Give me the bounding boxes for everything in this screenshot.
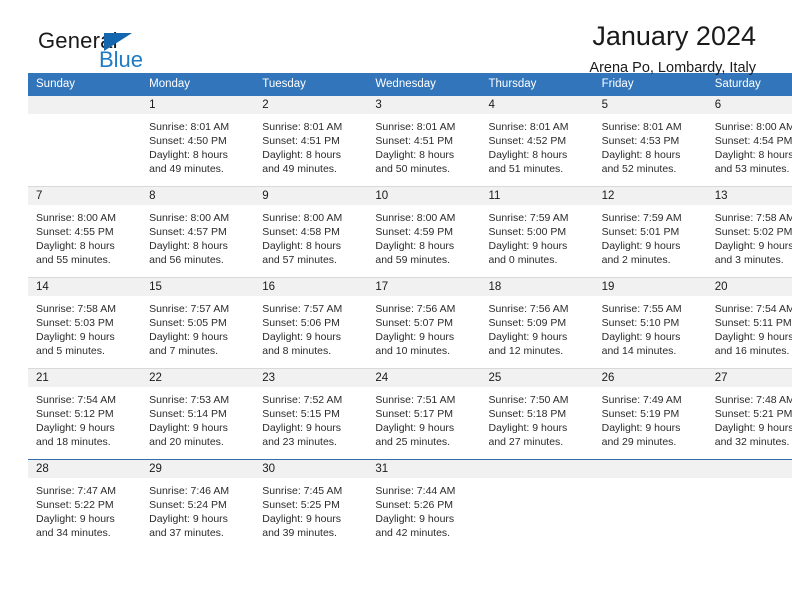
day-details: Sunrise: 7:58 AMSunset: 5:03 PMDaylight:… bbox=[28, 296, 141, 358]
day-details: Sunrise: 8:01 AMSunset: 4:51 PMDaylight:… bbox=[367, 114, 480, 176]
sunrise-text: Sunrise: 7:58 AM bbox=[715, 211, 792, 225]
daylight-text-line2: and 59 minutes. bbox=[375, 253, 474, 267]
daylight-text-line2: and 49 minutes. bbox=[262, 162, 361, 176]
sunrise-text: Sunrise: 7:51 AM bbox=[375, 393, 474, 407]
sunset-text: Sunset: 5:00 PM bbox=[489, 225, 588, 239]
sunset-text: Sunset: 4:57 PM bbox=[149, 225, 248, 239]
daylight-text-line1: Daylight: 9 hours bbox=[262, 512, 361, 526]
sunset-text: Sunset: 5:06 PM bbox=[262, 316, 361, 330]
sunset-text: Sunset: 5:03 PM bbox=[36, 316, 135, 330]
sunset-text: Sunset: 4:51 PM bbox=[262, 134, 361, 148]
daylight-text-line1: Daylight: 8 hours bbox=[36, 239, 135, 253]
calendar-day-cell[interactable]: 14Sunrise: 7:58 AMSunset: 5:03 PMDayligh… bbox=[28, 278, 141, 369]
sunrise-text: Sunrise: 7:50 AM bbox=[489, 393, 588, 407]
daylight-text-line1: Daylight: 9 hours bbox=[36, 330, 135, 344]
daylight-text-line1: Daylight: 9 hours bbox=[149, 330, 248, 344]
daylight-text-line1: Daylight: 9 hours bbox=[149, 421, 248, 435]
sunrise-text: Sunrise: 8:00 AM bbox=[36, 211, 135, 225]
day-details: Sunrise: 8:00 AMSunset: 4:55 PMDaylight:… bbox=[28, 205, 141, 267]
daylight-text-line1: Daylight: 9 hours bbox=[36, 512, 135, 526]
calendar-day-cell[interactable]: 18Sunrise: 7:56 AMSunset: 5:09 PMDayligh… bbox=[481, 278, 594, 369]
daylight-text-line2: and 3 minutes. bbox=[715, 253, 792, 267]
calendar-day-cell[interactable]: 11Sunrise: 7:59 AMSunset: 5:00 PMDayligh… bbox=[481, 187, 594, 278]
calendar-day-cell[interactable]: 12Sunrise: 7:59 AMSunset: 5:01 PMDayligh… bbox=[594, 187, 707, 278]
day-details: Sunrise: 7:50 AMSunset: 5:18 PMDaylight:… bbox=[481, 387, 594, 449]
calendar-day-cell[interactable]: 28Sunrise: 7:47 AMSunset: 5:22 PMDayligh… bbox=[28, 460, 141, 551]
day-details: Sunrise: 7:57 AMSunset: 5:05 PMDaylight:… bbox=[141, 296, 254, 358]
sunset-text: Sunset: 5:14 PM bbox=[149, 407, 248, 421]
day-number: 14 bbox=[28, 278, 141, 296]
sunrise-text: Sunrise: 8:01 AM bbox=[375, 120, 474, 134]
day-details: Sunrise: 8:00 AMSunset: 4:57 PMDaylight:… bbox=[141, 205, 254, 267]
sunrise-text: Sunrise: 7:52 AM bbox=[262, 393, 361, 407]
day-details: Sunrise: 7:58 AMSunset: 5:02 PMDaylight:… bbox=[707, 205, 792, 267]
page-title: January 2024 bbox=[589, 22, 756, 52]
sunset-text: Sunset: 5:21 PM bbox=[715, 407, 792, 421]
sunset-text: Sunset: 5:25 PM bbox=[262, 498, 361, 512]
sunrise-sunset-calendar: Sunday Monday Tuesday Wednesday Thursday… bbox=[28, 73, 792, 550]
weekday-header-wednesday: Wednesday bbox=[367, 73, 480, 96]
sunrise-text: Sunrise: 8:01 AM bbox=[149, 120, 248, 134]
daylight-text-line1: Daylight: 9 hours bbox=[149, 512, 248, 526]
sunrise-text: Sunrise: 7:47 AM bbox=[36, 484, 135, 498]
daylight-text-line2: and 20 minutes. bbox=[149, 435, 248, 449]
day-number: 26 bbox=[594, 369, 707, 387]
daylight-text-line1: Daylight: 8 hours bbox=[262, 148, 361, 162]
sunset-text: Sunset: 5:11 PM bbox=[715, 316, 792, 330]
daylight-text-line2: and 18 minutes. bbox=[36, 435, 135, 449]
weekday-header-thursday: Thursday bbox=[481, 73, 594, 96]
day-number: 11 bbox=[481, 187, 594, 205]
daylight-text-line2: and 32 minutes. bbox=[715, 435, 792, 449]
daylight-text-line1: Daylight: 8 hours bbox=[375, 148, 474, 162]
daylight-text-line2: and 52 minutes. bbox=[602, 162, 701, 176]
daylight-text-line1: Daylight: 9 hours bbox=[262, 330, 361, 344]
sunset-text: Sunset: 4:52 PM bbox=[489, 134, 588, 148]
day-details: Sunrise: 8:01 AMSunset: 4:53 PMDaylight:… bbox=[594, 114, 707, 176]
weekday-header-friday: Friday bbox=[594, 73, 707, 96]
calendar-day-cell[interactable]: 21Sunrise: 7:54 AMSunset: 5:12 PMDayligh… bbox=[28, 369, 141, 460]
calendar-week-row: 14Sunrise: 7:58 AMSunset: 5:03 PMDayligh… bbox=[28, 278, 792, 369]
calendar-day-cell[interactable]: 26Sunrise: 7:49 AMSunset: 5:19 PMDayligh… bbox=[594, 369, 707, 460]
sunset-text: Sunset: 5:22 PM bbox=[36, 498, 135, 512]
daylight-text-line1: Daylight: 9 hours bbox=[489, 421, 588, 435]
sunrise-text: Sunrise: 8:00 AM bbox=[715, 120, 792, 134]
sunrise-text: Sunrise: 7:45 AM bbox=[262, 484, 361, 498]
day-number: 28 bbox=[28, 460, 141, 478]
day-details: Sunrise: 8:01 AMSunset: 4:52 PMDaylight:… bbox=[481, 114, 594, 176]
sunrise-text: Sunrise: 7:49 AM bbox=[602, 393, 701, 407]
day-number: 27 bbox=[707, 369, 792, 387]
calendar-day-cell[interactable]: 30Sunrise: 7:45 AMSunset: 5:25 PMDayligh… bbox=[254, 460, 367, 551]
sunrise-text: Sunrise: 8:00 AM bbox=[149, 211, 248, 225]
daylight-text-line1: Daylight: 8 hours bbox=[489, 148, 588, 162]
day-number: 8 bbox=[141, 187, 254, 205]
daylight-text-line2: and 37 minutes. bbox=[149, 526, 248, 540]
daylight-text-line2: and 10 minutes. bbox=[375, 344, 474, 358]
sunset-text: Sunset: 5:02 PM bbox=[715, 225, 792, 239]
sunset-text: Sunset: 5:24 PM bbox=[149, 498, 248, 512]
sunset-text: Sunset: 4:55 PM bbox=[36, 225, 135, 239]
sunrise-text: Sunrise: 7:55 AM bbox=[602, 302, 701, 316]
day-number: 18 bbox=[481, 278, 594, 296]
calendar-day-cell[interactable]: 24Sunrise: 7:51 AMSunset: 5:17 PMDayligh… bbox=[367, 369, 480, 460]
daylight-text-line1: Daylight: 9 hours bbox=[715, 239, 792, 253]
day-details: Sunrise: 8:00 AMSunset: 4:58 PMDaylight:… bbox=[254, 205, 367, 267]
daylight-text-line2: and 8 minutes. bbox=[262, 344, 361, 358]
daylight-text-line2: and 27 minutes. bbox=[489, 435, 588, 449]
sunset-text: Sunset: 5:07 PM bbox=[375, 316, 474, 330]
day-number: 12 bbox=[594, 187, 707, 205]
calendar-body: 1Sunrise: 8:01 AMSunset: 4:50 PMDaylight… bbox=[28, 96, 792, 550]
sunset-text: Sunset: 5:10 PM bbox=[602, 316, 701, 330]
calendar-day-cell[interactable]: 20Sunrise: 7:54 AMSunset: 5:11 PMDayligh… bbox=[707, 278, 792, 369]
daylight-text-line2: and 39 minutes. bbox=[262, 526, 361, 540]
daylight-text-line2: and 5 minutes. bbox=[36, 344, 135, 358]
day-number: 20 bbox=[707, 278, 792, 296]
calendar-day-cell[interactable]: 19Sunrise: 7:55 AMSunset: 5:10 PMDayligh… bbox=[594, 278, 707, 369]
day-details: Sunrise: 7:51 AMSunset: 5:17 PMDaylight:… bbox=[367, 387, 480, 449]
day-number: 3 bbox=[367, 96, 480, 114]
sunrise-text: Sunrise: 7:57 AM bbox=[262, 302, 361, 316]
day-details: Sunrise: 7:47 AMSunset: 5:22 PMDaylight:… bbox=[28, 478, 141, 540]
sunset-text: Sunset: 5:26 PM bbox=[375, 498, 474, 512]
daylight-text-line2: and 55 minutes. bbox=[36, 253, 135, 267]
daylight-text-line1: Daylight: 9 hours bbox=[602, 239, 701, 253]
day-details: Sunrise: 7:57 AMSunset: 5:06 PMDaylight:… bbox=[254, 296, 367, 358]
calendar-day-cell[interactable]: 22Sunrise: 7:53 AMSunset: 5:14 PMDayligh… bbox=[141, 369, 254, 460]
sunset-text: Sunset: 5:18 PM bbox=[489, 407, 588, 421]
day-number: 24 bbox=[367, 369, 480, 387]
sunset-text: Sunset: 4:58 PM bbox=[262, 225, 361, 239]
day-details: Sunrise: 7:55 AMSunset: 5:10 PMDaylight:… bbox=[594, 296, 707, 358]
sunset-text: Sunset: 4:50 PM bbox=[149, 134, 248, 148]
calendar-day-cell[interactable]: 13Sunrise: 7:58 AMSunset: 5:02 PMDayligh… bbox=[707, 187, 792, 278]
calendar-day-cell[interactable]: 10Sunrise: 8:00 AMSunset: 4:59 PMDayligh… bbox=[367, 187, 480, 278]
brand-name-blue: Blue bbox=[99, 47, 143, 73]
calendar-day-cell[interactable]: 7Sunrise: 8:00 AMSunset: 4:55 PMDaylight… bbox=[28, 187, 141, 278]
sunrise-text: Sunrise: 7:57 AM bbox=[149, 302, 248, 316]
sunrise-text: Sunrise: 8:01 AM bbox=[489, 120, 588, 134]
daylight-text-line1: Daylight: 9 hours bbox=[262, 421, 361, 435]
day-number: 23 bbox=[254, 369, 367, 387]
daylight-text-line2: and 16 minutes. bbox=[715, 344, 792, 358]
daylight-text-line1: Daylight: 8 hours bbox=[375, 239, 474, 253]
day-details: Sunrise: 7:46 AMSunset: 5:24 PMDaylight:… bbox=[141, 478, 254, 540]
sunset-text: Sunset: 5:12 PM bbox=[36, 407, 135, 421]
weekday-header-saturday: Saturday bbox=[707, 73, 792, 96]
sunrise-text: Sunrise: 7:58 AM bbox=[36, 302, 135, 316]
day-number: 25 bbox=[481, 369, 594, 387]
page-header: General Blue January 2024 Arena Po, Lomb… bbox=[28, 0, 764, 73]
sunset-text: Sunset: 5:15 PM bbox=[262, 407, 361, 421]
daylight-text-line1: Daylight: 8 hours bbox=[149, 148, 248, 162]
sunset-text: Sunset: 4:54 PM bbox=[715, 134, 792, 148]
calendar-day-cell[interactable]: 27Sunrise: 7:48 AMSunset: 5:21 PMDayligh… bbox=[707, 369, 792, 460]
title-block: January 2024 Arena Po, Lombardy, Italy bbox=[589, 22, 756, 76]
daylight-text-line1: Daylight: 9 hours bbox=[489, 239, 588, 253]
day-number: 21 bbox=[28, 369, 141, 387]
daylight-text-line2: and 2 minutes. bbox=[602, 253, 701, 267]
sunset-text: Sunset: 5:17 PM bbox=[375, 407, 474, 421]
sunset-text: Sunset: 5:19 PM bbox=[602, 407, 701, 421]
sunset-text: Sunset: 5:05 PM bbox=[149, 316, 248, 330]
day-number: 10 bbox=[367, 187, 480, 205]
day-number: 15 bbox=[141, 278, 254, 296]
daylight-text-line2: and 7 minutes. bbox=[149, 344, 248, 358]
day-number: 2 bbox=[254, 96, 367, 114]
day-number: 30 bbox=[254, 460, 367, 478]
daylight-text-line2: and 23 minutes. bbox=[262, 435, 361, 449]
sunrise-text: Sunrise: 7:54 AM bbox=[715, 302, 792, 316]
daylight-text-line2: and 42 minutes. bbox=[375, 526, 474, 540]
page-subtitle: Arena Po, Lombardy, Italy bbox=[589, 60, 756, 76]
day-details: Sunrise: 7:49 AMSunset: 5:19 PMDaylight:… bbox=[594, 387, 707, 449]
daylight-text-line1: Daylight: 8 hours bbox=[149, 239, 248, 253]
daylight-text-line1: Daylight: 9 hours bbox=[36, 421, 135, 435]
calendar-day-cell[interactable]: 9Sunrise: 8:00 AMSunset: 4:58 PMDaylight… bbox=[254, 187, 367, 278]
sunrise-text: Sunrise: 8:01 AM bbox=[602, 120, 701, 134]
day-number bbox=[707, 460, 792, 478]
day-details bbox=[594, 478, 707, 484]
calendar-day-cell[interactable] bbox=[28, 96, 141, 187]
daylight-text-line1: Daylight: 9 hours bbox=[715, 330, 792, 344]
daylight-text-line1: Daylight: 9 hours bbox=[715, 421, 792, 435]
calendar-day-cell[interactable]: 16Sunrise: 7:57 AMSunset: 5:06 PMDayligh… bbox=[254, 278, 367, 369]
sunrise-text: Sunrise: 7:53 AM bbox=[149, 393, 248, 407]
calendar-day-cell[interactable] bbox=[707, 460, 792, 551]
daylight-text-line2: and 12 minutes. bbox=[489, 344, 588, 358]
sunrise-text: Sunrise: 7:54 AM bbox=[36, 393, 135, 407]
day-number: 22 bbox=[141, 369, 254, 387]
day-details: Sunrise: 7:53 AMSunset: 5:14 PMDaylight:… bbox=[141, 387, 254, 449]
day-number: 13 bbox=[707, 187, 792, 205]
calendar-week-row: 7Sunrise: 8:00 AMSunset: 4:55 PMDaylight… bbox=[28, 187, 792, 278]
day-details: Sunrise: 7:52 AMSunset: 5:15 PMDaylight:… bbox=[254, 387, 367, 449]
calendar-day-cell[interactable]: 25Sunrise: 7:50 AMSunset: 5:18 PMDayligh… bbox=[481, 369, 594, 460]
day-number: 29 bbox=[141, 460, 254, 478]
daylight-text-line2: and 0 minutes. bbox=[489, 253, 588, 267]
calendar-day-cell[interactable] bbox=[594, 460, 707, 551]
sunset-text: Sunset: 4:51 PM bbox=[375, 134, 474, 148]
daylight-text-line1: Daylight: 9 hours bbox=[602, 421, 701, 435]
day-details: Sunrise: 7:48 AMSunset: 5:21 PMDaylight:… bbox=[707, 387, 792, 449]
day-number: 5 bbox=[594, 96, 707, 114]
day-number: 9 bbox=[254, 187, 367, 205]
day-number: 31 bbox=[367, 460, 480, 478]
daylight-text-line1: Daylight: 9 hours bbox=[375, 512, 474, 526]
sunset-text: Sunset: 5:01 PM bbox=[602, 225, 701, 239]
day-number bbox=[28, 96, 141, 114]
sunrise-text: Sunrise: 7:59 AM bbox=[489, 211, 588, 225]
day-details: Sunrise: 7:45 AMSunset: 5:25 PMDaylight:… bbox=[254, 478, 367, 540]
daylight-text-line2: and 49 minutes. bbox=[149, 162, 248, 176]
sunset-text: Sunset: 4:53 PM bbox=[602, 134, 701, 148]
daylight-text-line2: and 25 minutes. bbox=[375, 435, 474, 449]
day-details bbox=[28, 114, 141, 120]
sunrise-text: Sunrise: 7:56 AM bbox=[375, 302, 474, 316]
calendar-week-row: 28Sunrise: 7:47 AMSunset: 5:22 PMDayligh… bbox=[28, 460, 792, 551]
calendar-week-row: 1Sunrise: 8:01 AMSunset: 4:50 PMDaylight… bbox=[28, 96, 792, 187]
day-details: Sunrise: 7:59 AMSunset: 5:00 PMDaylight:… bbox=[481, 205, 594, 267]
daylight-text-line1: Daylight: 8 hours bbox=[262, 239, 361, 253]
day-number: 6 bbox=[707, 96, 792, 114]
day-details: Sunrise: 7:54 AMSunset: 5:11 PMDaylight:… bbox=[707, 296, 792, 358]
calendar-day-cell[interactable]: 23Sunrise: 7:52 AMSunset: 5:15 PMDayligh… bbox=[254, 369, 367, 460]
daylight-text-line1: Daylight: 9 hours bbox=[489, 330, 588, 344]
day-number bbox=[481, 460, 594, 478]
brand-logo[interactable]: General Blue bbox=[38, 28, 298, 80]
day-number: 16 bbox=[254, 278, 367, 296]
daylight-text-line1: Daylight: 9 hours bbox=[602, 330, 701, 344]
sunrise-text: Sunrise: 7:48 AM bbox=[715, 393, 792, 407]
day-details: Sunrise: 8:01 AMSunset: 4:50 PMDaylight:… bbox=[141, 114, 254, 176]
sunset-text: Sunset: 5:09 PM bbox=[489, 316, 588, 330]
day-details: Sunrise: 8:00 AMSunset: 4:54 PMDaylight:… bbox=[707, 114, 792, 176]
daylight-text-line2: and 57 minutes. bbox=[262, 253, 361, 267]
day-details: Sunrise: 8:00 AMSunset: 4:59 PMDaylight:… bbox=[367, 205, 480, 267]
daylight-text-line1: Daylight: 8 hours bbox=[715, 148, 792, 162]
daylight-text-line2: and 51 minutes. bbox=[489, 162, 588, 176]
daylight-text-line1: Daylight: 8 hours bbox=[602, 148, 701, 162]
day-details: Sunrise: 7:56 AMSunset: 5:09 PMDaylight:… bbox=[481, 296, 594, 358]
calendar-day-cell[interactable]: 29Sunrise: 7:46 AMSunset: 5:24 PMDayligh… bbox=[141, 460, 254, 551]
calendar-day-cell[interactable]: 17Sunrise: 7:56 AMSunset: 5:07 PMDayligh… bbox=[367, 278, 480, 369]
sunrise-text: Sunrise: 8:00 AM bbox=[375, 211, 474, 225]
day-number: 7 bbox=[28, 187, 141, 205]
sunrise-text: Sunrise: 7:44 AM bbox=[375, 484, 474, 498]
sunrise-text: Sunrise: 7:46 AM bbox=[149, 484, 248, 498]
daylight-text-line1: Daylight: 9 hours bbox=[375, 421, 474, 435]
sunrise-text: Sunrise: 7:56 AM bbox=[489, 302, 588, 316]
day-details: Sunrise: 7:44 AMSunset: 5:26 PMDaylight:… bbox=[367, 478, 480, 540]
day-details: Sunrise: 7:54 AMSunset: 5:12 PMDaylight:… bbox=[28, 387, 141, 449]
calendar-day-cell[interactable]: 4Sunrise: 8:01 AMSunset: 4:52 PMDaylight… bbox=[481, 96, 594, 187]
calendar-day-cell[interactable]: 5Sunrise: 8:01 AMSunset: 4:53 PMDaylight… bbox=[594, 96, 707, 187]
calendar-page: General Blue January 2024 Arena Po, Lomb… bbox=[0, 0, 792, 612]
day-number: 1 bbox=[141, 96, 254, 114]
calendar-day-cell[interactable]: 3Sunrise: 8:01 AMSunset: 4:51 PMDaylight… bbox=[367, 96, 480, 187]
day-details bbox=[481, 478, 594, 484]
day-number bbox=[594, 460, 707, 478]
day-number: 19 bbox=[594, 278, 707, 296]
sunset-text: Sunset: 4:59 PM bbox=[375, 225, 474, 239]
calendar-day-cell[interactable]: 8Sunrise: 8:00 AMSunset: 4:57 PMDaylight… bbox=[141, 187, 254, 278]
calendar-day-cell[interactable]: 2Sunrise: 8:01 AMSunset: 4:51 PMDaylight… bbox=[254, 96, 367, 187]
day-details: Sunrise: 8:01 AMSunset: 4:51 PMDaylight:… bbox=[254, 114, 367, 176]
daylight-text-line2: and 29 minutes. bbox=[602, 435, 701, 449]
day-number: 4 bbox=[481, 96, 594, 114]
day-details bbox=[707, 478, 792, 484]
calendar-day-cell[interactable]: 1Sunrise: 8:01 AMSunset: 4:50 PMDaylight… bbox=[141, 96, 254, 187]
calendar-day-cell[interactable]: 31Sunrise: 7:44 AMSunset: 5:26 PMDayligh… bbox=[367, 460, 480, 551]
sunrise-text: Sunrise: 8:00 AM bbox=[262, 211, 361, 225]
daylight-text-line2: and 56 minutes. bbox=[149, 253, 248, 267]
daylight-text-line1: Daylight: 9 hours bbox=[375, 330, 474, 344]
daylight-text-line2: and 14 minutes. bbox=[602, 344, 701, 358]
daylight-text-line2: and 34 minutes. bbox=[36, 526, 135, 540]
calendar-day-cell[interactable] bbox=[481, 460, 594, 551]
day-details: Sunrise: 7:59 AMSunset: 5:01 PMDaylight:… bbox=[594, 205, 707, 267]
calendar-week-row: 21Sunrise: 7:54 AMSunset: 5:12 PMDayligh… bbox=[28, 369, 792, 460]
calendar-day-cell[interactable]: 6Sunrise: 8:00 AMSunset: 4:54 PMDaylight… bbox=[707, 96, 792, 187]
daylight-text-line2: and 50 minutes. bbox=[375, 162, 474, 176]
sunrise-text: Sunrise: 7:59 AM bbox=[602, 211, 701, 225]
sunrise-text: Sunrise: 8:01 AM bbox=[262, 120, 361, 134]
daylight-text-line2: and 53 minutes. bbox=[715, 162, 792, 176]
day-details: Sunrise: 7:56 AMSunset: 5:07 PMDaylight:… bbox=[367, 296, 480, 358]
calendar-day-cell[interactable]: 15Sunrise: 7:57 AMSunset: 5:05 PMDayligh… bbox=[141, 278, 254, 369]
day-number: 17 bbox=[367, 278, 480, 296]
